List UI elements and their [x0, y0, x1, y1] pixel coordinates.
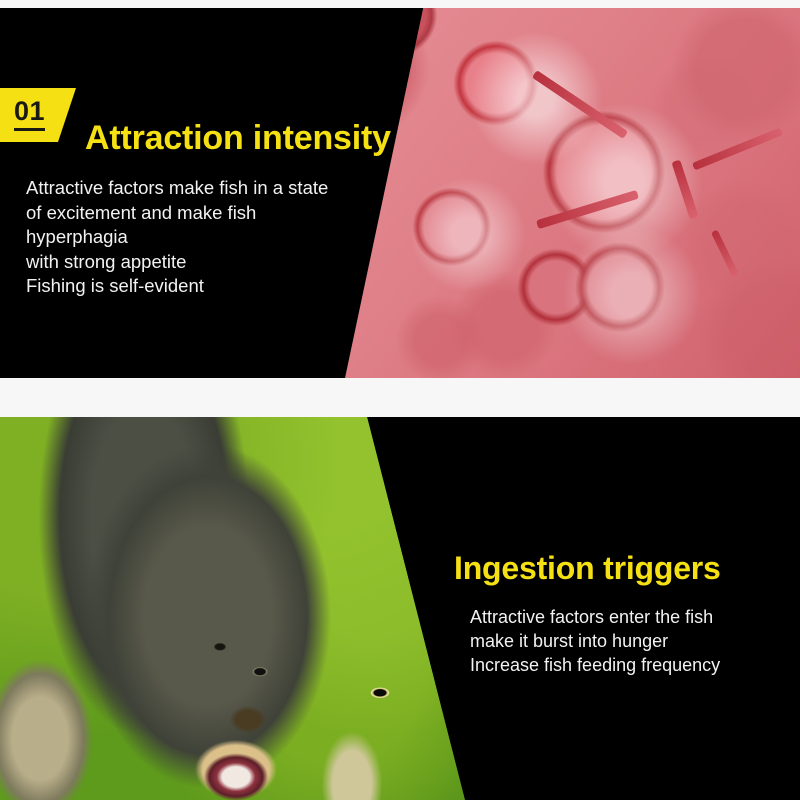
panel-01-body-line: hyperphagia — [26, 225, 328, 250]
panel-attraction-intensity: 01 Attraction intensity Attractive facto… — [0, 8, 800, 378]
infographic-page: 01 Attraction intensity Attractive facto… — [0, 0, 800, 800]
panel-02-title: Ingestion triggers — [454, 546, 721, 590]
panel-01-body: Attractive factors make fish in a state … — [26, 176, 328, 299]
panel-01-body-line: of excitement and make fish — [26, 201, 328, 226]
panel-01-title: Attraction intensity — [85, 116, 391, 161]
molecule-bond — [692, 127, 783, 170]
panel-ingestion-triggers: 02 Ingestion triggers Attractive factors… — [0, 417, 800, 800]
panel-02-body-line: Increase fish feeding frequency — [470, 653, 720, 677]
molecule-bond — [711, 229, 739, 277]
panel-02-body: Attractive factors enter the fish make i… — [470, 605, 720, 677]
panel-01-body-line: Attractive factors make fish in a state — [26, 176, 328, 201]
molecule-bond — [536, 190, 639, 229]
panel-02-body-line: make it burst into hunger — [470, 629, 720, 653]
badge-number-01-label: 01 — [14, 96, 45, 131]
panel-divider — [0, 378, 800, 417]
panel-02-content: 02 Ingestion triggers Attractive factors… — [380, 417, 800, 800]
panel-01-content: 01 Attraction intensity Attractive facto… — [0, 8, 440, 378]
panel-02-body-line: Attractive factors enter the fish — [470, 605, 720, 629]
molecule-bond — [532, 70, 628, 139]
badge-number-01: 01 — [0, 88, 76, 142]
panel-01-body-line: Fishing is self-evident — [26, 274, 328, 299]
panel-01-body-line: with strong appetite — [26, 250, 328, 275]
